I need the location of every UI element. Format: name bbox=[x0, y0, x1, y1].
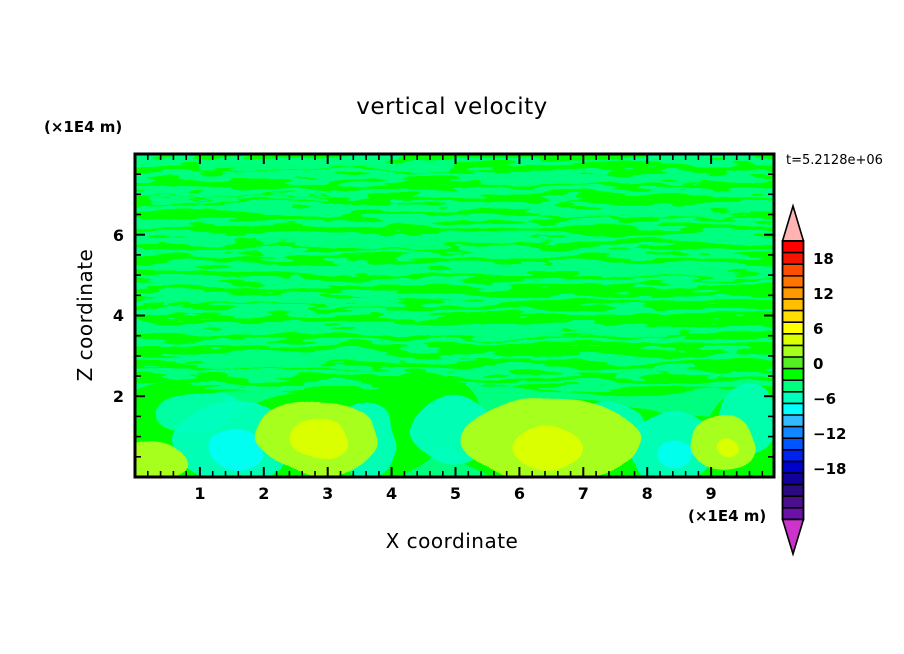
colorbar-tick-label: 6 bbox=[813, 320, 823, 338]
colorbar-tick-label: 18 bbox=[813, 250, 834, 268]
colorbar-tick-label: −12 bbox=[813, 425, 846, 443]
time-annotation: t=5.2128e+06 bbox=[786, 153, 883, 168]
page-title: vertical velocity bbox=[356, 94, 547, 120]
y-axis-title: Z coordinate bbox=[73, 249, 97, 382]
x-tick-label: 8 bbox=[642, 484, 653, 503]
x-tick-label: 2 bbox=[258, 484, 269, 503]
x-tick-label: 6 bbox=[514, 484, 525, 503]
contour-plot-figure: vertical velocity (×1E4 m) bbox=[0, 0, 904, 654]
x-tick-label: 1 bbox=[194, 484, 205, 503]
colorbar-tick-label: −6 bbox=[813, 390, 836, 408]
x-tick-label: 3 bbox=[322, 484, 333, 503]
x-tick-label: 9 bbox=[706, 484, 717, 503]
colorbar-tick-label: 0 bbox=[813, 355, 823, 373]
x-axis-title: X coordinate bbox=[386, 529, 519, 553]
x-axis-unit-label: (×1E4 m) bbox=[688, 507, 766, 525]
colorbar-tick-label: 12 bbox=[813, 285, 834, 303]
x-tick-label: 5 bbox=[450, 484, 461, 503]
y-tick-label: 4 bbox=[113, 306, 124, 325]
x-tick-label: 4 bbox=[386, 484, 397, 503]
colorbar-tick-label: −18 bbox=[813, 460, 846, 478]
x-tick-label: 7 bbox=[578, 484, 589, 503]
y-tick-label: 6 bbox=[113, 226, 124, 245]
y-axis-unit-label: (×1E4 m) bbox=[44, 118, 122, 136]
y-tick-label: 2 bbox=[113, 387, 124, 406]
